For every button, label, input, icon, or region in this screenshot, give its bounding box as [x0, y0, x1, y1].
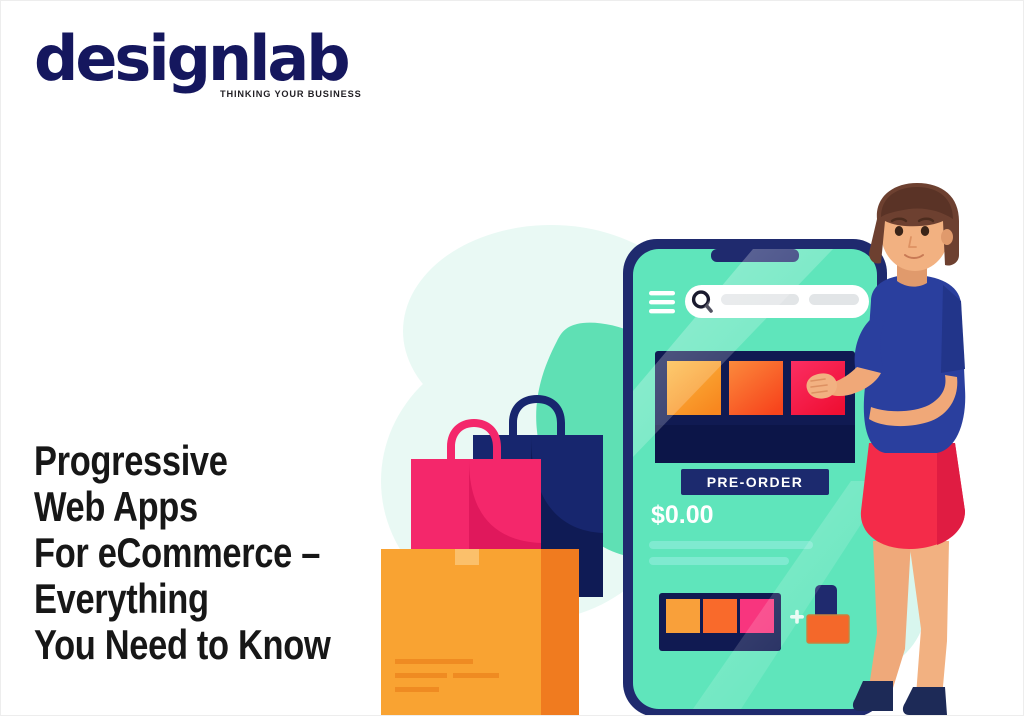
- headline-line-4: Everything: [34, 576, 378, 622]
- page-title: Progressive Web Apps For eCommerce – Eve…: [34, 438, 378, 668]
- brand-wordmark: designlab: [34, 28, 348, 90]
- headline-line-5: You Need to Know: [34, 622, 378, 668]
- headline-line-2: Web Apps: [34, 484, 378, 530]
- search-placeholder-pill-2: [809, 294, 859, 305]
- pre-order-button-label: PRE-ORDER: [707, 474, 804, 490]
- thumbnail-swatch-1[interactable]: [666, 599, 700, 633]
- price-label: $0.00: [651, 501, 714, 529]
- color-swatch-2[interactable]: [729, 361, 783, 415]
- headline-line-3: For eCommerce –: [34, 530, 378, 576]
- promo-banner: designlab THINKING YOUR BUSINESS Progres…: [0, 0, 1024, 716]
- box-text-line-2: [395, 673, 447, 678]
- description-line-1: [649, 541, 813, 549]
- pre-order-button[interactable]: PRE-ORDER: [681, 469, 829, 495]
- character-ear: [941, 229, 953, 245]
- character-shoe-front: [903, 687, 947, 715]
- character-eye-right: [921, 226, 929, 236]
- hamburger-menu-icon[interactable]: [649, 291, 675, 313]
- box-text-line-1: [395, 659, 473, 664]
- orange-box: [381, 549, 579, 716]
- product-card-footer: [655, 425, 855, 463]
- character-skirt-shade: [937, 443, 965, 545]
- brand-tagline: THINKING YOUR BUSINESS: [220, 89, 362, 99]
- thumbnail-swatch-2[interactable]: [703, 599, 737, 633]
- brand-logo[interactable]: designlab THINKING YOUR BUSINESS: [34, 28, 324, 108]
- character-sleeve-shade: [941, 285, 965, 373]
- description-line-2: [649, 557, 789, 565]
- phone-mockup: PRE-ORDER $0.00: [623, 239, 889, 716]
- box-text-line-3: [453, 673, 499, 678]
- headline-line-1: Progressive: [34, 438, 378, 484]
- character-eye-left: [895, 226, 903, 236]
- hero-illustration: PRE-ORDER $0.00: [381, 181, 1024, 716]
- box-text-line-4: [395, 687, 439, 692]
